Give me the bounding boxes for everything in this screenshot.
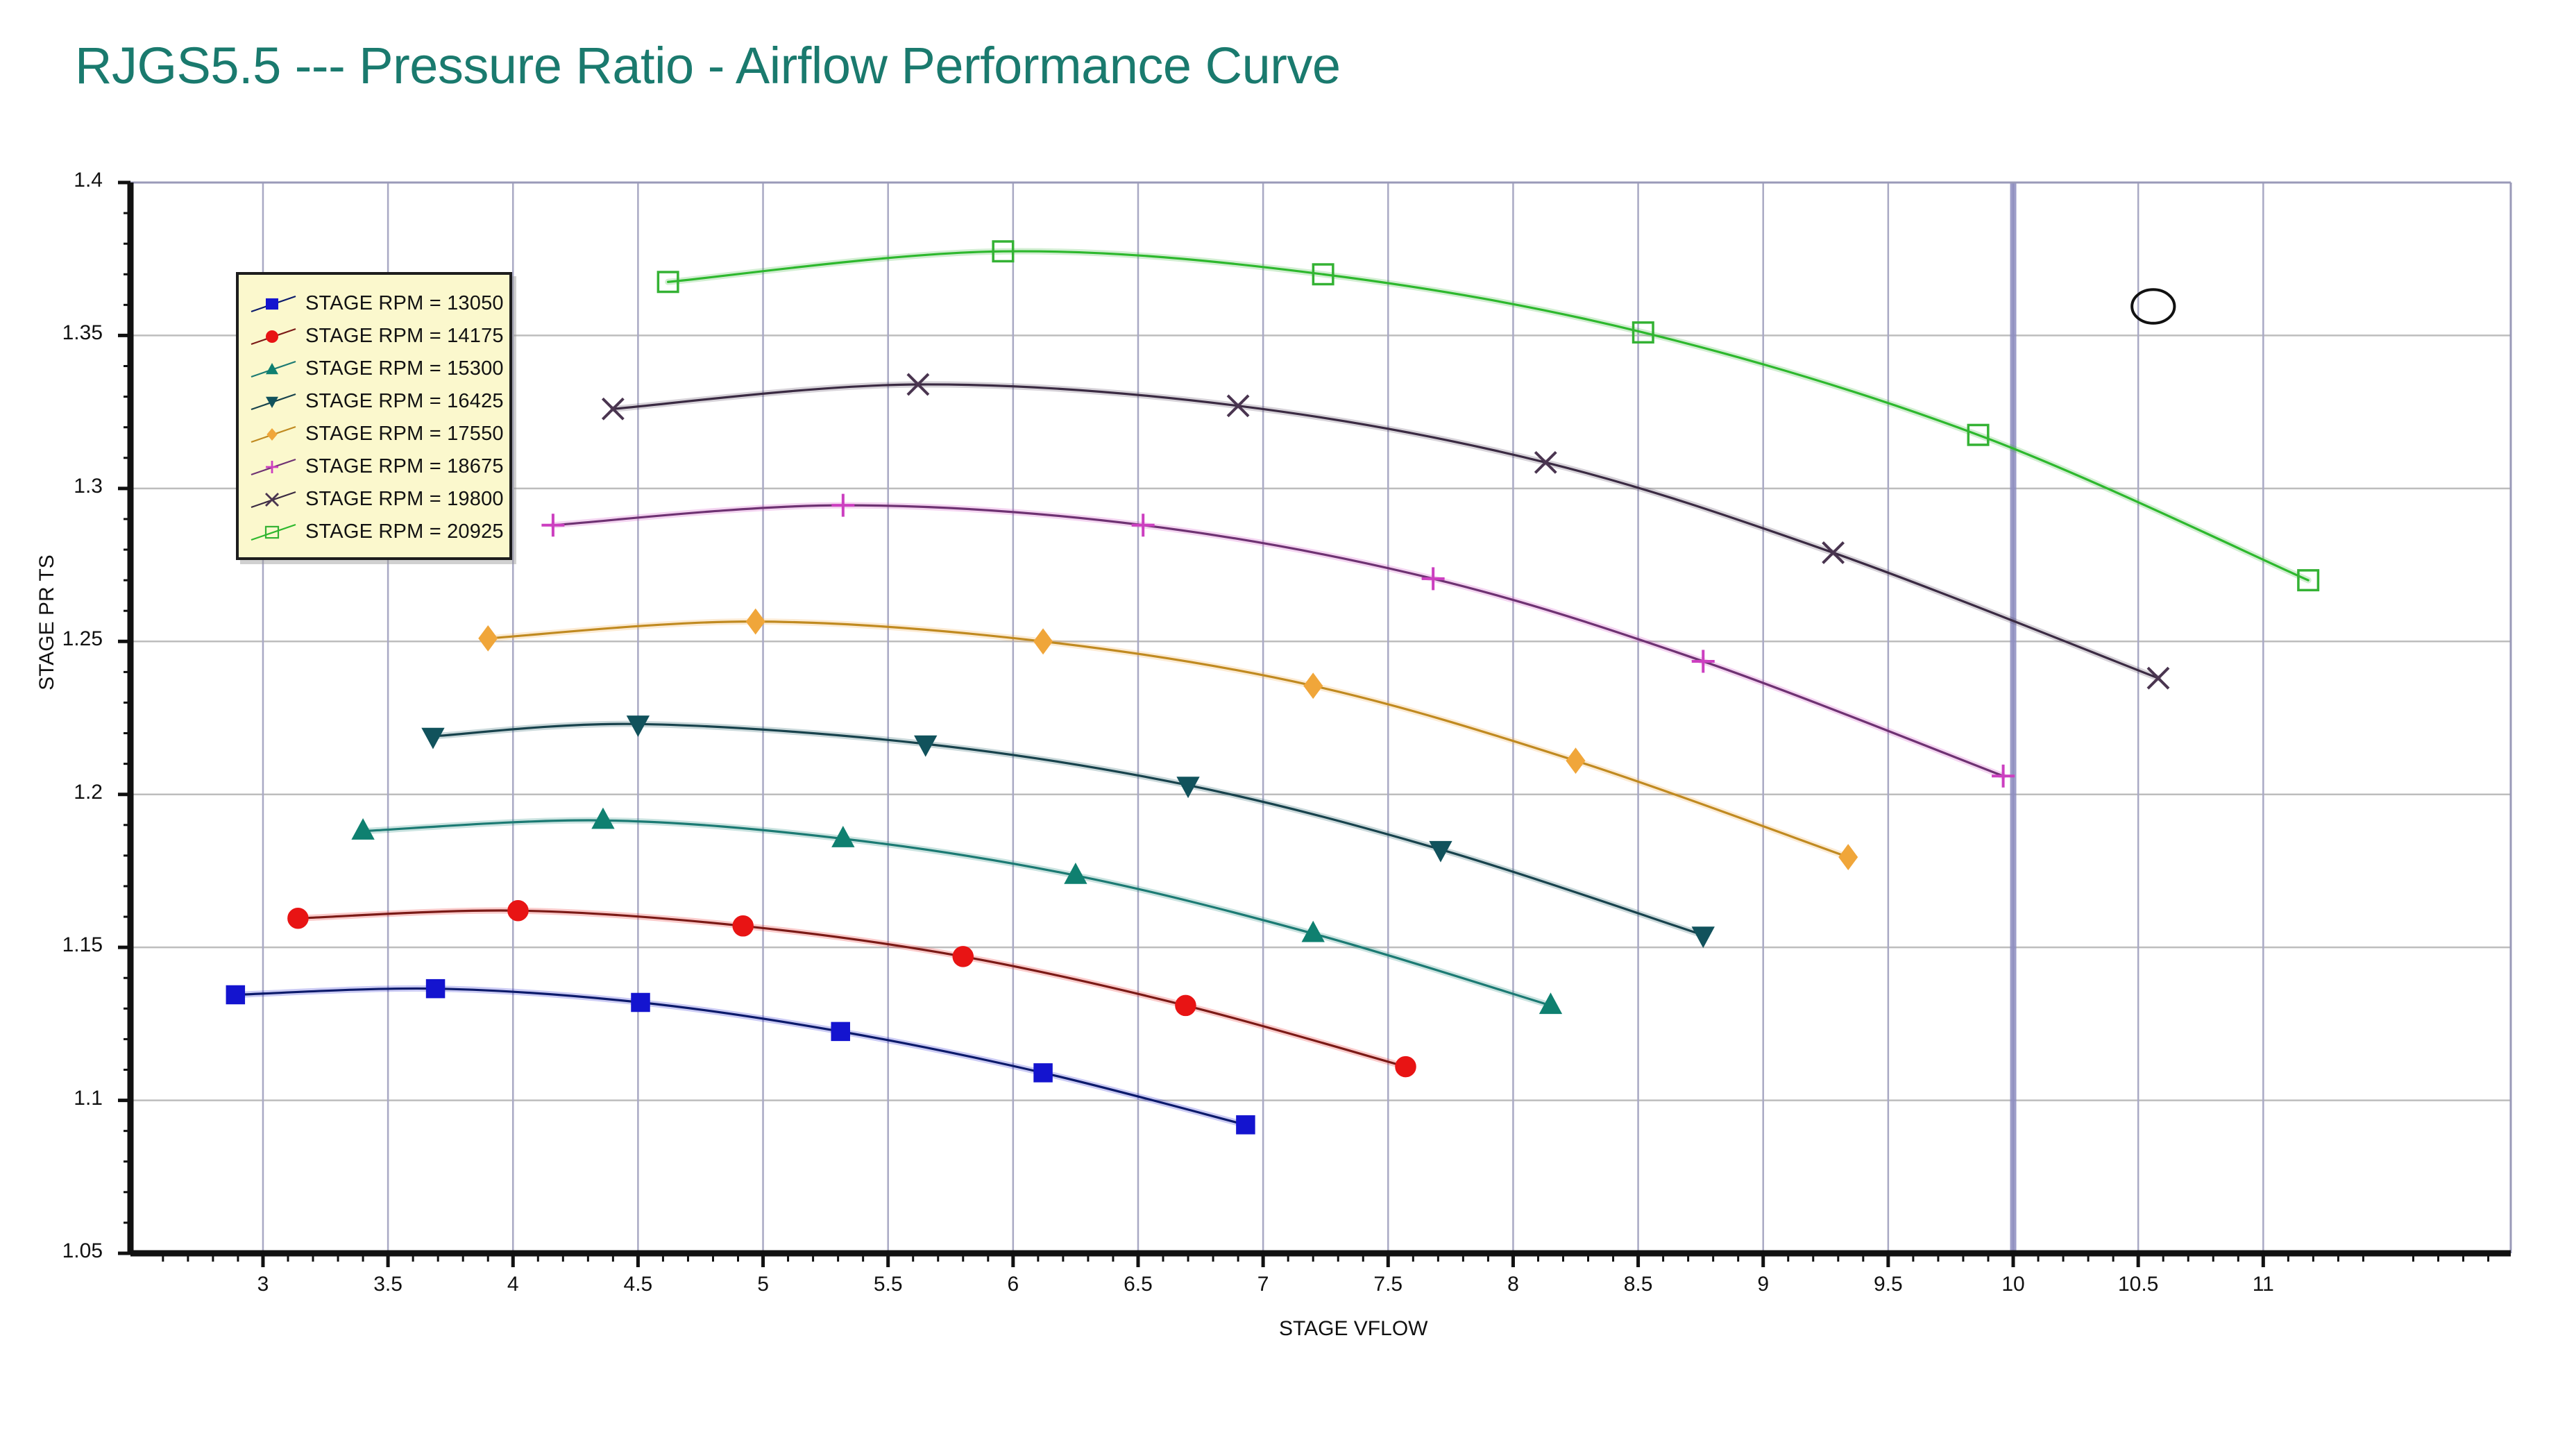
marker-square: [632, 994, 650, 1012]
legend-marker-icon: [248, 518, 298, 546]
y-tick-label: 1.3: [12, 475, 103, 498]
marker-circle: [954, 947, 974, 967]
y-tick-label: 1.35: [12, 321, 103, 345]
x-tick-label: 4: [471, 1273, 554, 1296]
marker-square: [1034, 1064, 1052, 1082]
x-tick-label: 7: [1221, 1273, 1305, 1296]
legend-item-label: STAGE RPM = 14175: [305, 325, 504, 348]
x-tick-label: 8: [1471, 1273, 1554, 1296]
legend-marker-icon: [248, 486, 298, 514]
x-tick-label: 6.5: [1096, 1273, 1180, 1296]
y-tick-label: 1.25: [12, 627, 103, 651]
legend-item[interactable]: STAGE RPM = 18675: [248, 450, 502, 483]
marker-circle: [1396, 1057, 1416, 1077]
y-axis-label: STAGE PR TS: [35, 546, 59, 699]
y-tick-label: 1.4: [12, 169, 103, 192]
legend-marker-icon: [248, 421, 298, 448]
legend-marker-icon: [248, 290, 298, 318]
legend-marker-icon: [248, 388, 298, 416]
legend[interactable]: STAGE RPM = 13050STAGE RPM = 14175STAGE …: [236, 272, 512, 560]
marker-circle: [1176, 996, 1196, 1016]
x-tick-label: 3: [221, 1273, 305, 1296]
legend-item-label: STAGE RPM = 18675: [305, 455, 504, 478]
x-axis-label: STAGE VFLOW: [1279, 1317, 1427, 1341]
marker-circle: [508, 901, 528, 921]
x-tick-label: 7.5: [1346, 1273, 1430, 1296]
y-tick-label: 1.1: [12, 1087, 103, 1110]
legend-item-label: STAGE RPM = 17550: [305, 423, 504, 446]
plot-area: STAGE PR TS STAGE VFLOW 1.051.11.151.21.…: [0, 0, 2576, 1449]
marker-square: [831, 1023, 849, 1041]
x-tick-label: 4.5: [596, 1273, 679, 1296]
x-tick-label: 5.5: [847, 1273, 930, 1296]
x-tick-label: 6: [972, 1273, 1055, 1296]
marker-square: [427, 980, 445, 998]
legend-item-label: STAGE RPM = 19800: [305, 488, 504, 511]
y-tick-label: 1.2: [12, 781, 103, 804]
y-tick-label: 1.15: [12, 933, 103, 957]
chart-svg: [0, 0, 2576, 1449]
x-tick-label: 5: [722, 1273, 805, 1296]
marker-circle: [288, 908, 308, 929]
legend-item-label: STAGE RPM = 16425: [305, 390, 504, 413]
x-tick-label: 3.5: [346, 1273, 430, 1296]
legend-marker-icon: [248, 453, 298, 481]
x-tick-label: 10: [1972, 1273, 2055, 1296]
marker-square: [1237, 1116, 1255, 1134]
x-tick-label: 8.5: [1597, 1273, 1680, 1296]
marker-square: [227, 986, 245, 1004]
legend-marker-icon: [248, 323, 298, 350]
chart-page: RJGS5.5 --- Pressure Ratio - Airflow Per…: [0, 0, 2576, 1449]
legend-item[interactable]: STAGE RPM = 16425: [248, 385, 502, 418]
x-tick-label: 9: [1722, 1273, 1805, 1296]
legend-item-label: STAGE RPM = 15300: [305, 357, 504, 380]
x-tick-label: 11: [2221, 1273, 2305, 1296]
legend-item[interactable]: STAGE RPM = 14175: [248, 320, 502, 353]
x-tick-label: 10.5: [2096, 1273, 2180, 1296]
legend-item-label: STAGE RPM = 20925: [305, 520, 504, 543]
legend-item[interactable]: STAGE RPM = 13050: [248, 287, 502, 320]
marker-circle: [733, 916, 753, 936]
legend-item[interactable]: STAGE RPM = 15300: [248, 353, 502, 385]
legend-item[interactable]: STAGE RPM = 17550: [248, 418, 502, 450]
x-tick-label: 9.5: [1847, 1273, 1930, 1296]
legend-marker-icon: [248, 355, 298, 383]
legend-item-label: STAGE RPM = 13050: [305, 292, 504, 315]
y-tick-label: 1.05: [12, 1239, 103, 1263]
legend-item[interactable]: STAGE RPM = 20925: [248, 516, 502, 548]
legend-item[interactable]: STAGE RPM = 19800: [248, 483, 502, 516]
